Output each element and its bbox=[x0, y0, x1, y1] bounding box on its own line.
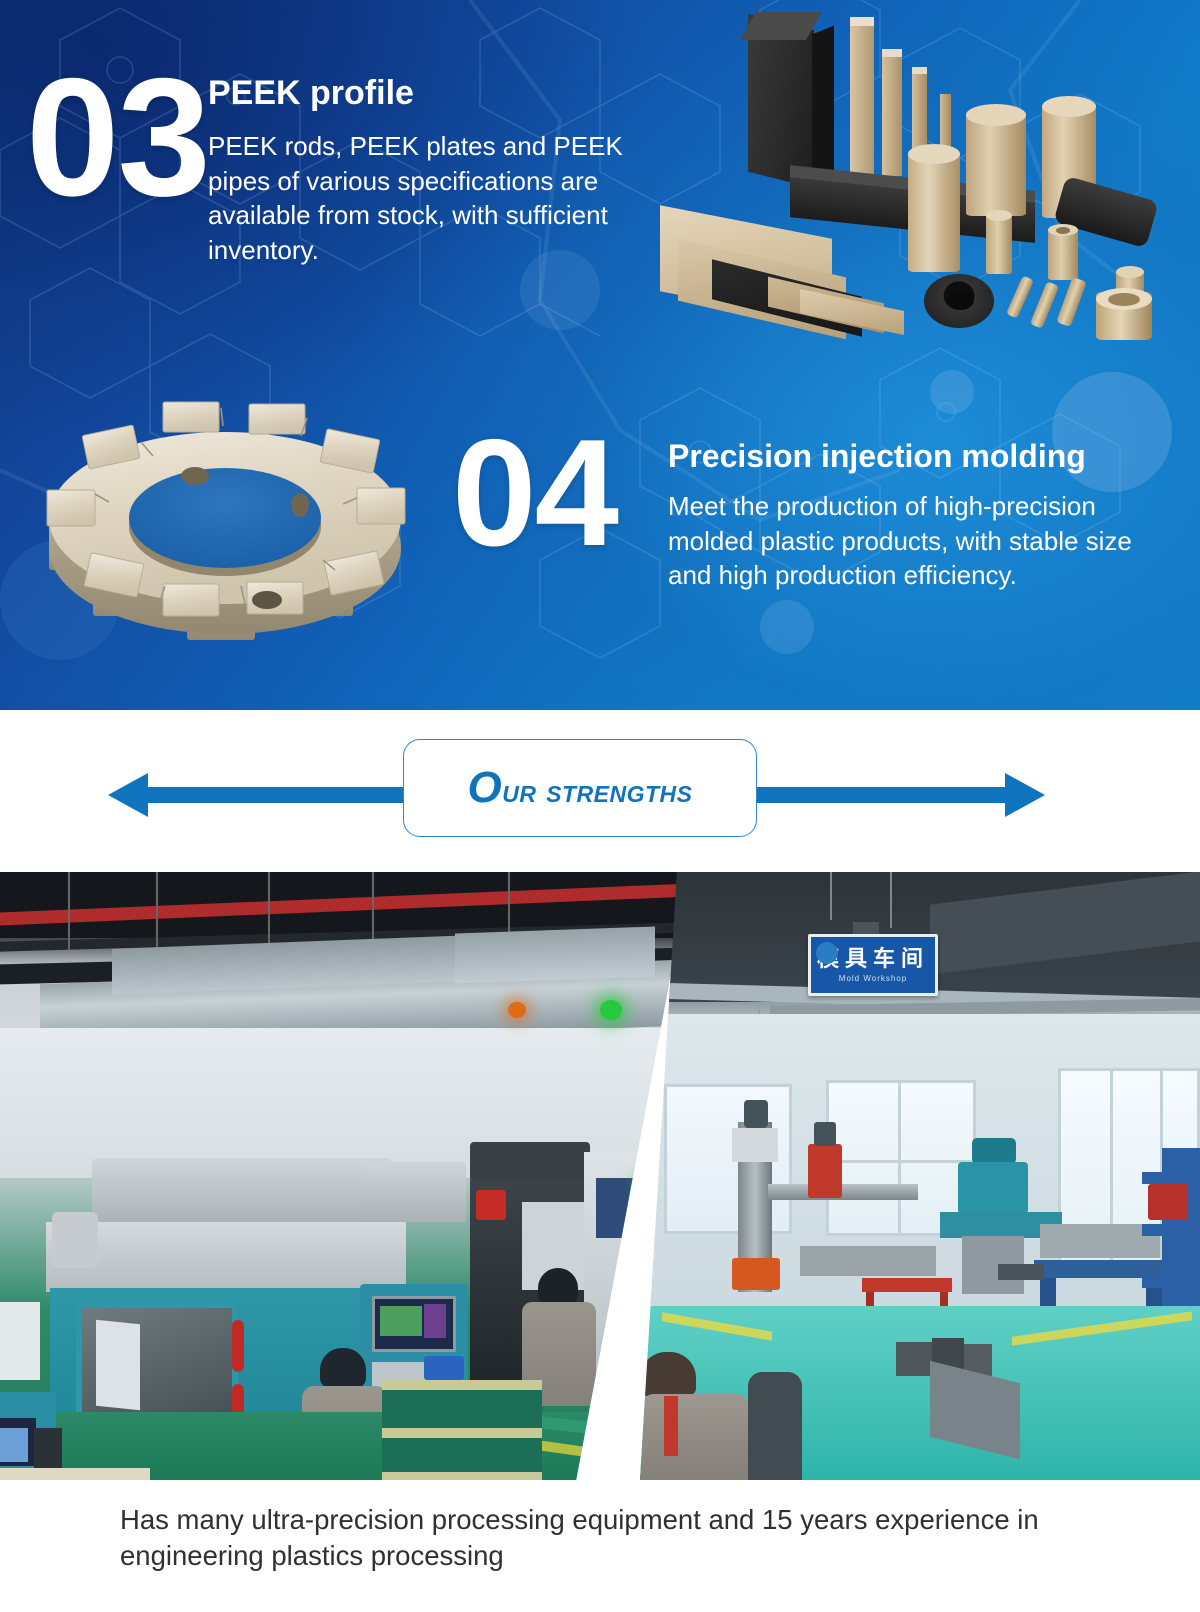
our-strengths-rest: ur strengths bbox=[502, 772, 692, 809]
mold-workshop-photo: 模具车间 Mold Workshop bbox=[640, 872, 1200, 1480]
bolt-hole bbox=[181, 467, 209, 485]
arrow-head-left-icon bbox=[108, 773, 148, 817]
our-strengths-pill[interactable]: Our strengths bbox=[403, 739, 757, 837]
our-strengths-label: Our strengths bbox=[468, 763, 693, 813]
block-body-03: PEEK rods, PEEK plates and PEEK pipes of… bbox=[208, 129, 660, 267]
block-body-04: Meet the production of high-precision mo… bbox=[668, 489, 1168, 593]
hero-block-03: 03 PEEK profile PEEK rods, PEEK plates a… bbox=[26, 60, 686, 267]
arrow-line-left bbox=[144, 787, 414, 803]
block-title-03: PEEK profile bbox=[208, 74, 660, 113]
caption-section: Has many ultra-precision processing equi… bbox=[0, 1480, 1200, 1612]
background-blob bbox=[930, 370, 974, 414]
block-title-04: Precision injection molding bbox=[668, 438, 1168, 475]
background-blob bbox=[760, 600, 814, 654]
arrow-line-right bbox=[745, 787, 1007, 803]
factory-photo-strip: 模具车间 Mold Workshop bbox=[0, 872, 1200, 1480]
bolt-hole bbox=[291, 493, 309, 517]
cnc-machining-workshop-photo bbox=[0, 872, 690, 1480]
hero-section: 03 PEEK profile PEEK rods, PEEK plates a… bbox=[0, 0, 1200, 710]
caption-text: Has many ultra-precision processing equi… bbox=[120, 1502, 1090, 1575]
block-number-03: 03 bbox=[26, 60, 208, 215]
peek-molded-gear-ring-photo bbox=[35, 378, 435, 668]
block-number-04: 04 bbox=[452, 424, 668, 564]
mold-workshop-sign-en: Mold Workshop bbox=[839, 974, 907, 983]
bolt-hole bbox=[252, 591, 282, 609]
peek-stock-profiles-photo bbox=[660, 0, 1200, 362]
hero-block-04: 04 Precision injection molding Meet the … bbox=[452, 424, 1182, 593]
arrow-head-right-icon bbox=[1005, 773, 1045, 817]
gear-ring-illustration bbox=[35, 378, 435, 668]
our-strengths-initial: O bbox=[468, 763, 503, 812]
